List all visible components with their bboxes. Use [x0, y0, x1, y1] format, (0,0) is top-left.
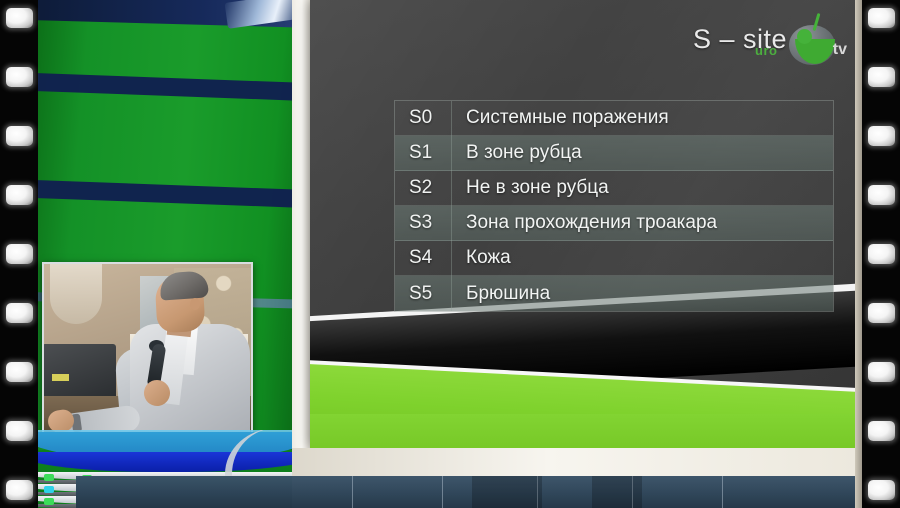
desk-led [44, 474, 54, 481]
row-code: S0 [395, 107, 451, 129]
film-sprocket-hole [6, 67, 33, 87]
desk-led [44, 486, 54, 493]
table-row: S5 Брюшина [395, 276, 833, 311]
film-sprocket-hole [6, 480, 33, 500]
table-row: S0 Системные поражения [395, 101, 833, 136]
film-sprocket-hole [868, 67, 895, 87]
table-row: S3 Зона прохождения троакара [395, 206, 833, 241]
table-row: S4 Кожа [395, 241, 833, 276]
row-code: S2 [395, 177, 451, 199]
film-sprocket-hole [868, 362, 895, 382]
film-sprocket-hole [6, 8, 33, 28]
logo-green-dot [797, 29, 812, 44]
film-sprocket-hole [6, 421, 33, 441]
wall-edge [855, 0, 862, 508]
monitor-label [52, 374, 69, 381]
table-row: S1 В зоне рубца [395, 136, 833, 171]
film-strip-right [862, 0, 900, 508]
room-wall-below-screen [292, 448, 862, 476]
film-sprocket-hole [868, 244, 895, 264]
film-sprocket-hole [868, 480, 895, 500]
floor-tiles-left [76, 476, 292, 508]
row-label: В зоне рубца [452, 142, 582, 164]
row-code: S3 [395, 212, 451, 234]
video-frame: S – site uro tv S0 Системные поражения [0, 0, 900, 508]
row-label: Брюшина [452, 283, 550, 305]
video-content: S – site uro tv S0 Системные поражения [38, 0, 862, 508]
film-strip-left [0, 0, 38, 508]
row-code: S5 [395, 283, 451, 305]
presenter-ear [190, 298, 200, 310]
presenter-video-inset [42, 262, 253, 438]
film-sprocket-hole [6, 244, 33, 264]
film-sprocket-hole [6, 303, 33, 323]
film-sprocket-hole [6, 362, 33, 382]
row-label: Не в зоне рубца [452, 177, 609, 199]
desk-led [44, 498, 54, 505]
room-curtain [50, 264, 102, 324]
uro-tv-watermark: S – site uro tv [693, 8, 843, 70]
classification-table: S0 Системные поражения S1 В зоне рубца S… [394, 100, 834, 312]
film-sprocket-hole [868, 421, 895, 441]
row-code: S1 [395, 142, 451, 164]
film-sprocket-hole [868, 185, 895, 205]
film-sprocket-hole [868, 126, 895, 146]
row-label: Кожа [452, 247, 511, 269]
presentation-slide: S – site uro tv S0 Системные поражения [310, 0, 855, 448]
film-sprocket-hole [6, 185, 33, 205]
film-sprocket-hole [868, 303, 895, 323]
row-label: Зона прохождения троакара [452, 212, 717, 234]
floor-tiles [292, 476, 862, 508]
table-row: S2 Не в зоне рубца [395, 171, 833, 206]
row-label: Системные поражения [452, 107, 669, 129]
slide-green-base [310, 414, 855, 448]
logo-uro-text: uro [755, 43, 777, 58]
studio-camera-shot [38, 0, 292, 508]
logo-tv-text: tv [833, 41, 847, 59]
film-sprocket-hole [868, 8, 895, 28]
uro-tv-sphere-logo-icon: uro tv [781, 11, 843, 67]
film-sprocket-hole [6, 126, 33, 146]
row-code: S4 [395, 247, 451, 269]
